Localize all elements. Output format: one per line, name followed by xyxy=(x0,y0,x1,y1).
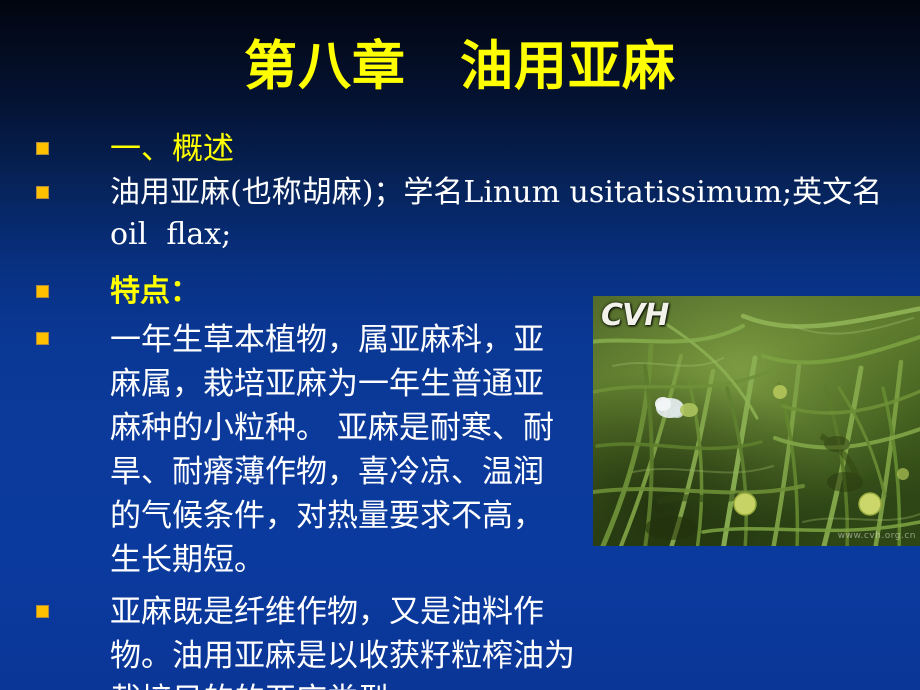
list-item-label: 一、概述 xyxy=(110,128,908,170)
photo-credit-label: www.cvh.org.cn xyxy=(838,531,916,542)
page-title: 第八章 油用亚麻 xyxy=(0,36,920,98)
list-item-fiber-and-oil: 亚麻既是纤维作物，又是油料作物。油用亚麻是以收获籽粒榨油为栽培目的的亚麻类型。 xyxy=(0,590,920,690)
square-bullet-icon xyxy=(36,332,49,345)
list-item-label: 一年生草本植物，属亚麻科，亚麻属，栽培亚麻为一年生普通亚麻种的小粒种。 亚麻是耐… xyxy=(110,318,570,582)
square-bullet-icon xyxy=(36,285,49,298)
list-item-overview: 一、概述 xyxy=(0,128,920,170)
square-bullet-icon xyxy=(36,142,49,155)
list-item-label: 油用亚麻(也称胡麻)；学名Linum usitatissimum;英文名oil … xyxy=(110,172,908,256)
list-item-label: 亚麻既是纤维作物，又是油料作物。油用亚麻是以收获籽粒榨油为栽培目的的亚麻类型。 xyxy=(110,590,580,690)
square-bullet-icon xyxy=(36,605,49,618)
cvh-watermark-label: CVH xyxy=(601,300,668,332)
flax-plant-illustration xyxy=(593,296,920,546)
slide-canvas: 第八章 油用亚麻 一、概述 油用亚麻(也称胡麻)；学名Linum usitati… xyxy=(0,0,920,690)
square-bullet-icon xyxy=(36,186,49,199)
flax-plant-photo: CVH www.cvh.org.cn xyxy=(593,296,920,546)
list-item-scientific-name: 油用亚麻(也称胡麻)；学名Linum usitatissimum;英文名oil … xyxy=(0,172,920,256)
